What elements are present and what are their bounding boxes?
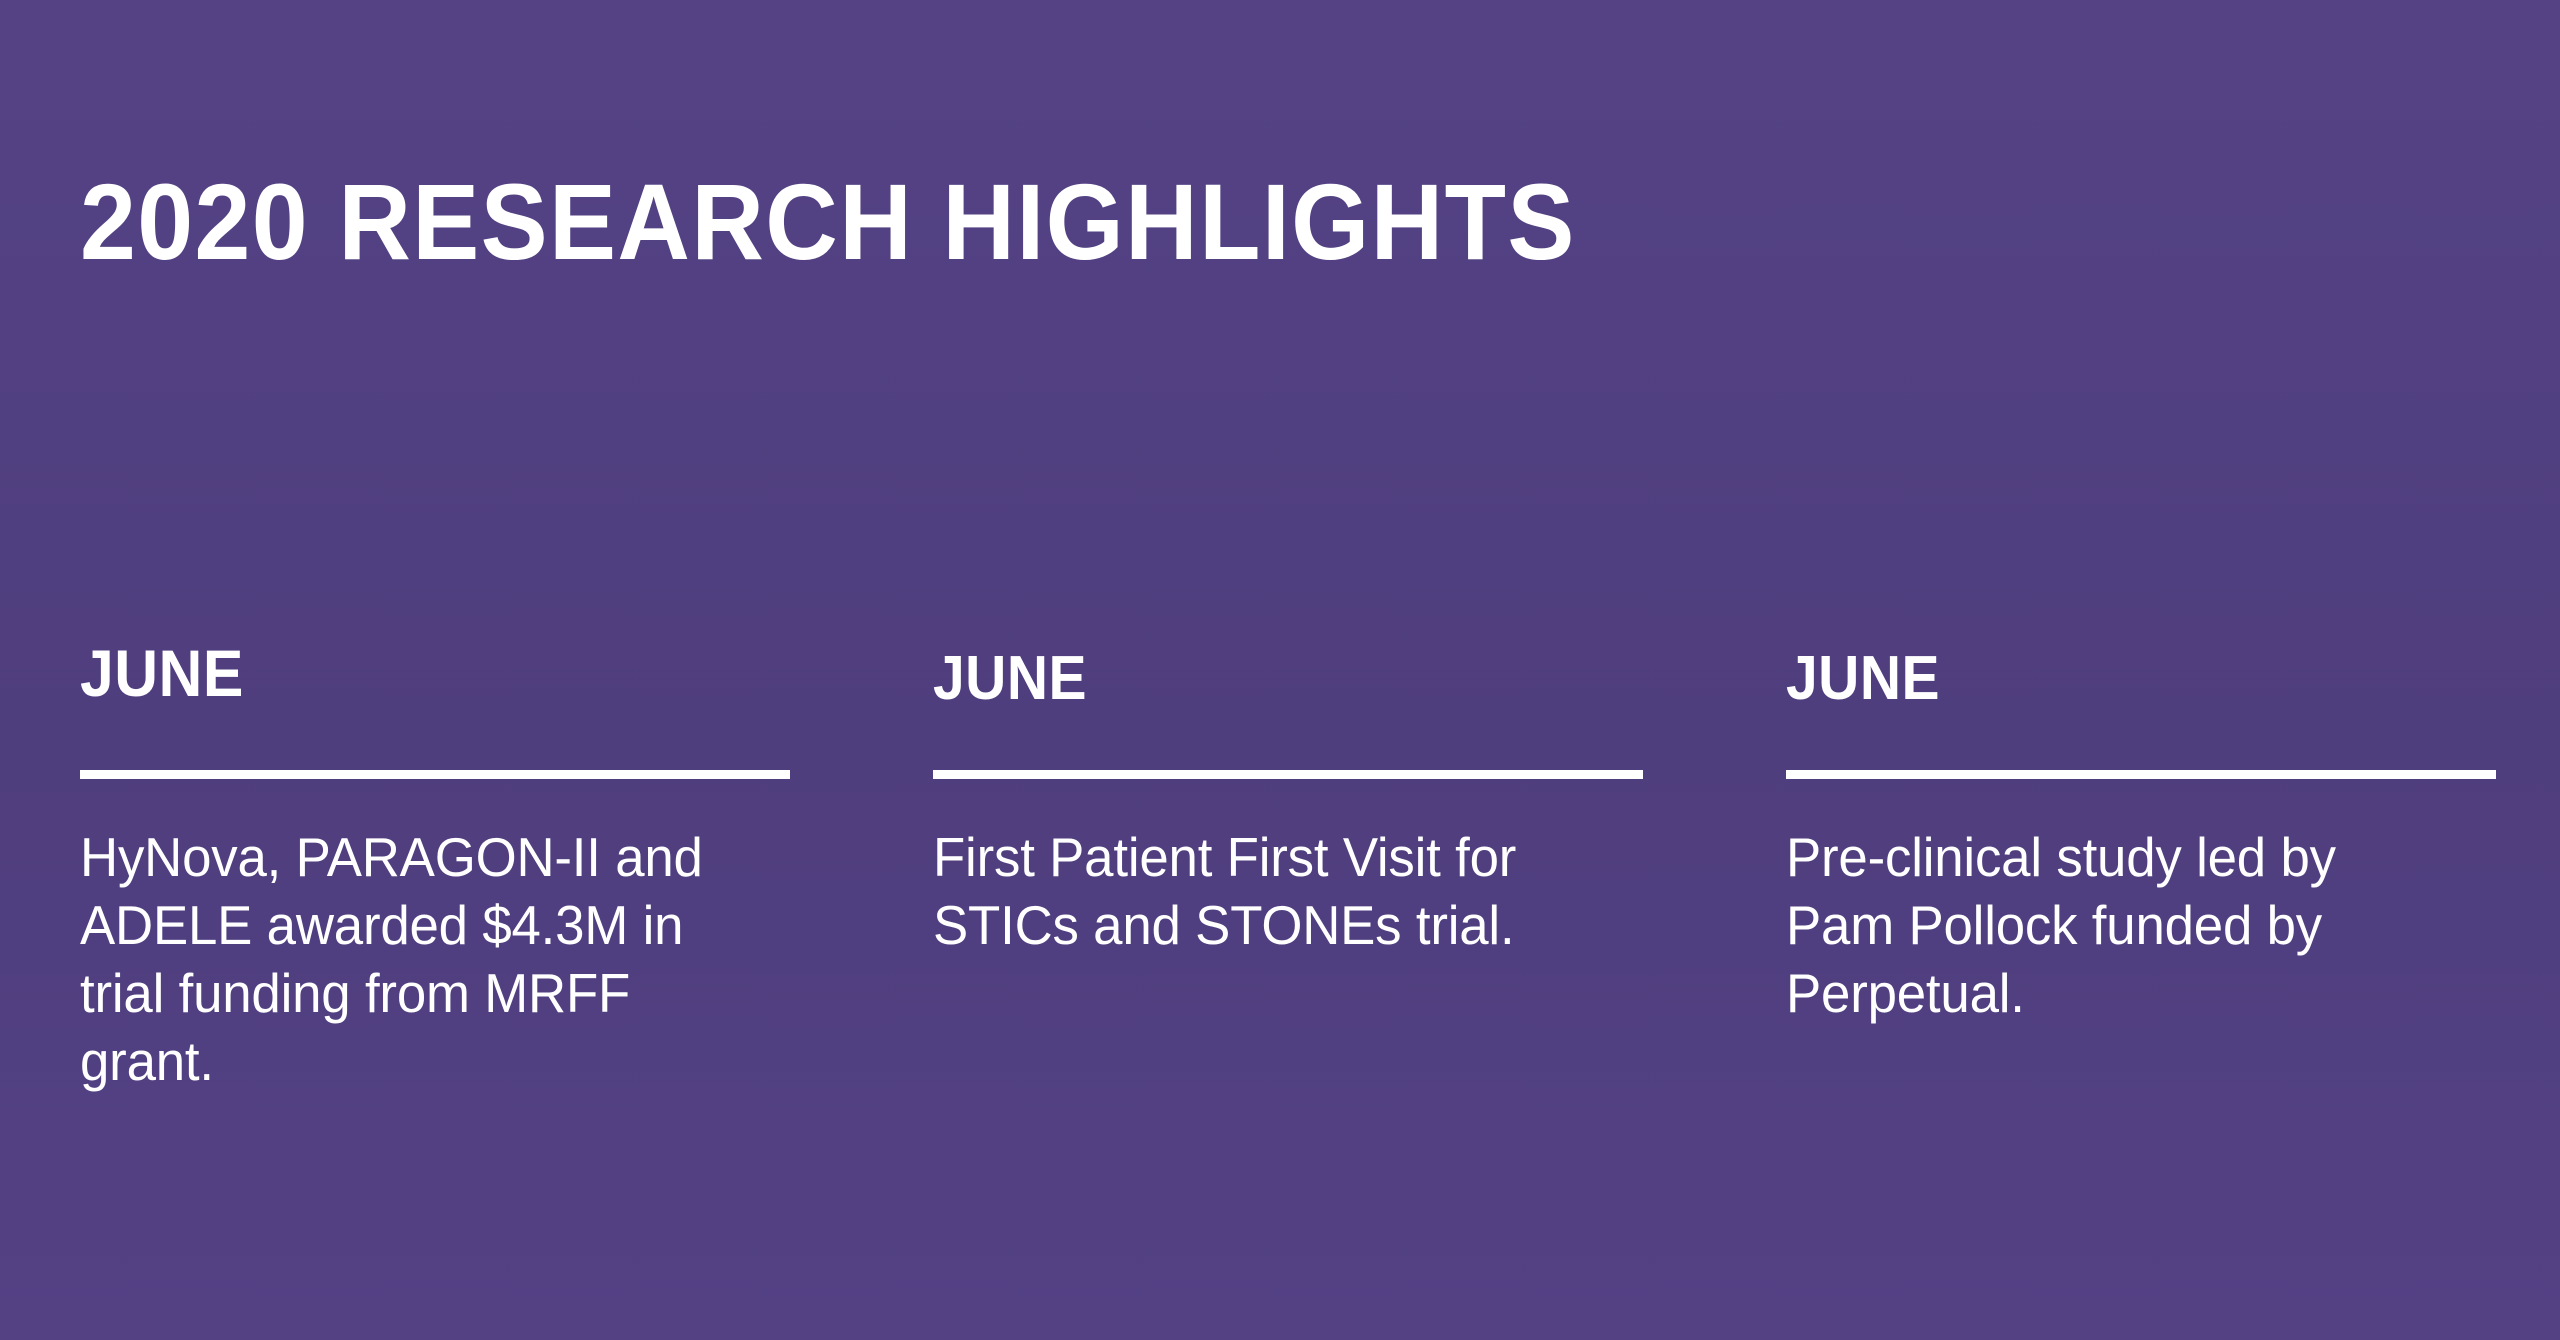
month-heading-2: JUNE bbox=[933, 648, 1087, 710]
highlight-column-1: JUNE HyNova, PARAGON-II and ADELE awarde… bbox=[80, 640, 790, 1095]
divider-rule-3 bbox=[1786, 770, 2496, 779]
highlight-column-2: JUNE First Patient First Visit for STICs… bbox=[933, 640, 1643, 959]
highlight-text-2: First Patient First Visit for STICs and … bbox=[933, 823, 1605, 959]
month-heading-1: JUNE bbox=[80, 640, 244, 706]
page-title: 2020 RESEARCH HIGHLIGHTS bbox=[80, 168, 1576, 276]
month-heading-wrap-3: JUNE bbox=[1786, 640, 2496, 770]
highlights-column-group: JUNE HyNova, PARAGON-II and ADELE awarde… bbox=[80, 640, 2488, 1095]
highlight-text-1: HyNova, PARAGON-II and ADELE awarded $4.… bbox=[80, 823, 752, 1095]
month-heading-3: JUNE bbox=[1786, 648, 1940, 710]
highlight-column-3: JUNE Pre-clinical study led by Pam Pollo… bbox=[1786, 640, 2496, 1027]
month-heading-wrap-1: JUNE bbox=[80, 640, 790, 770]
divider-rule-2 bbox=[933, 770, 1643, 779]
highlight-text-3: Pre-clinical study led by Pam Pollock fu… bbox=[1786, 823, 2458, 1027]
month-heading-wrap-2: JUNE bbox=[933, 640, 1643, 770]
research-highlights-slide: 2020 RESEARCH HIGHLIGHTS JUNE HyNova, PA… bbox=[0, 0, 2560, 1340]
divider-rule-1 bbox=[80, 770, 790, 779]
